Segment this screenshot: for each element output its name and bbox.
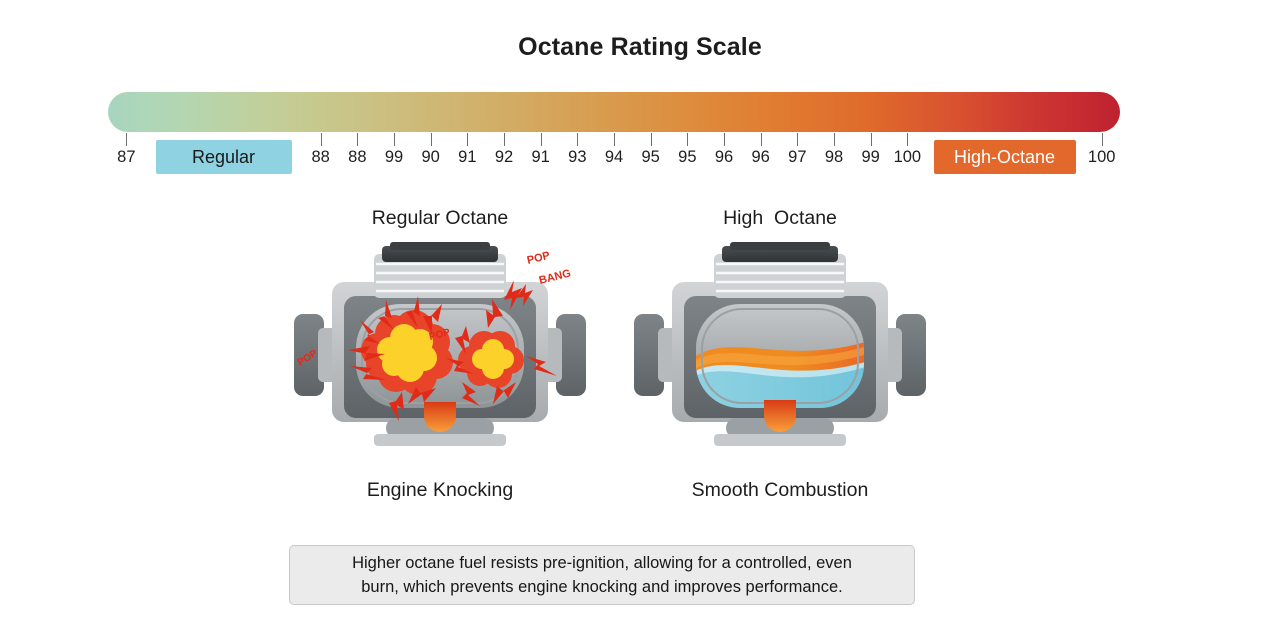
sfx-bang: BANG xyxy=(538,267,572,286)
engine-illustration-smooth xyxy=(615,242,945,464)
note-line-2: burn, which prevents engine knocking and… xyxy=(361,575,843,599)
scale-tick-label: 91 xyxy=(458,140,476,174)
engine-panel-high-octane: High Octane xyxy=(615,204,945,504)
scale-tick-label: 87 xyxy=(117,140,135,174)
scale-tick-label: 94 xyxy=(605,140,623,174)
engine-knocking-svg: POP BANG POP POP xyxy=(290,242,590,464)
scale-tick-label: 90 xyxy=(421,140,439,174)
scale-tick-label: 99 xyxy=(861,140,879,174)
scale-tick-label: 95 xyxy=(641,140,659,174)
scale-tick-label: 96 xyxy=(715,140,733,174)
scale-tick-label: 88 xyxy=(348,140,366,174)
note-line-1: Higher octane fuel resists pre-ignition,… xyxy=(352,551,852,575)
engine-heading-high-octane: High Octane xyxy=(615,204,945,232)
engine-panel-regular: Regular Octane xyxy=(275,204,605,504)
regular-badge[interactable]: Regular xyxy=(156,140,292,174)
engine-heading-regular: Regular Octane xyxy=(275,204,605,232)
explanation-note: Higher octane fuel resists pre-ignition,… xyxy=(289,545,915,605)
page-title: Octane Rating Scale xyxy=(0,33,1280,62)
sfx-pop-top: POP xyxy=(526,250,551,267)
high-octane-badge[interactable]: High-Octane xyxy=(934,140,1076,174)
scale-tick-label: 93 xyxy=(568,140,586,174)
scale-gradient xyxy=(108,92,1120,132)
engine-smooth-svg xyxy=(630,242,930,464)
engine-illustration-knocking: POP BANG POP POP xyxy=(275,242,605,464)
scale-tick-label: 96 xyxy=(751,140,769,174)
scale-tick-label: 99 xyxy=(385,140,403,174)
scale-tick-label: 95 xyxy=(678,140,696,174)
scale-tick-label: 100 xyxy=(1088,140,1116,174)
scale-tick-label: 92 xyxy=(495,140,513,174)
octane-scale-bar xyxy=(108,92,1120,132)
engine-caption-high-octane: Smooth Combustion xyxy=(615,476,945,504)
engine-comparison: Regular Octane xyxy=(0,204,1280,524)
scale-tick-label: 88 xyxy=(311,140,329,174)
scale-tick-label: 98 xyxy=(825,140,843,174)
scale-tick-label: 97 xyxy=(788,140,806,174)
scale-tick-label: 100 xyxy=(894,140,922,174)
engine-caption-regular: Engine Knocking xyxy=(275,476,605,504)
scale-labels: Regular High-Octane 87888899909192919394… xyxy=(108,140,1120,174)
scale-tick-label: 91 xyxy=(531,140,549,174)
